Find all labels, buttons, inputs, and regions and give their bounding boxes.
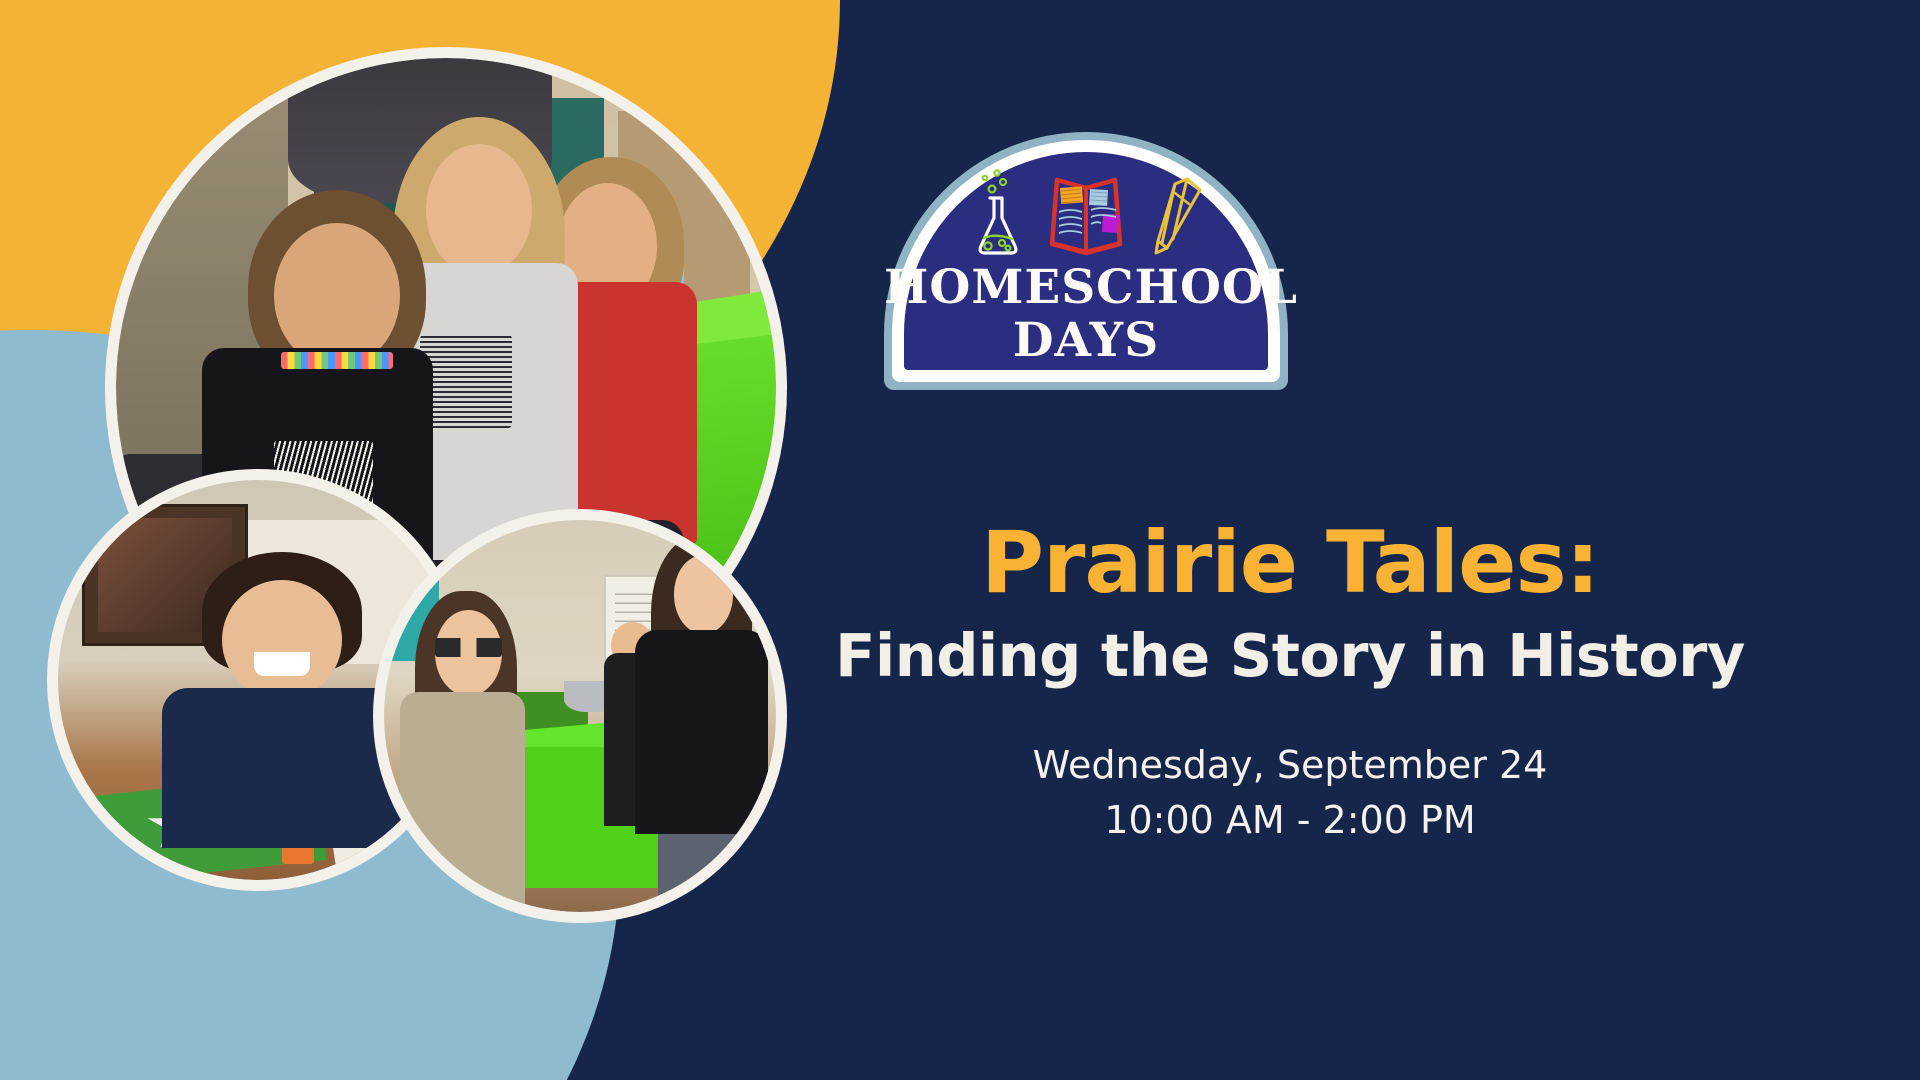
event-time: 10:00 AM - 2:00 PM [660,793,1920,848]
event-date: Wednesday, September 24 [660,738,1920,793]
open-book-icon [1051,180,1121,253]
event-details: Wednesday, September 24 10:00 AM - 2:00 … [660,738,1920,848]
headline-block: Prairie Tales: Finding the Story in Hist… [660,520,1920,689]
page-title: Prairie Tales: [660,520,1920,608]
promo-graphic: HOMESCHOOL DAYS Prairie Tales: Finding t… [0,0,1920,1080]
page-subtitle: Finding the Story in History [660,624,1920,689]
homeschool-days-badge: HOMESCHOOL DAYS [884,132,1288,390]
badge-line-2: DAYS [884,317,1288,364]
badge-text: HOMESCHOOL DAYS [884,264,1288,364]
badge-line-1: HOMESCHOOL [884,264,1288,311]
pencil-icon [1156,179,1200,253]
badge-icon-row [884,160,1288,270]
